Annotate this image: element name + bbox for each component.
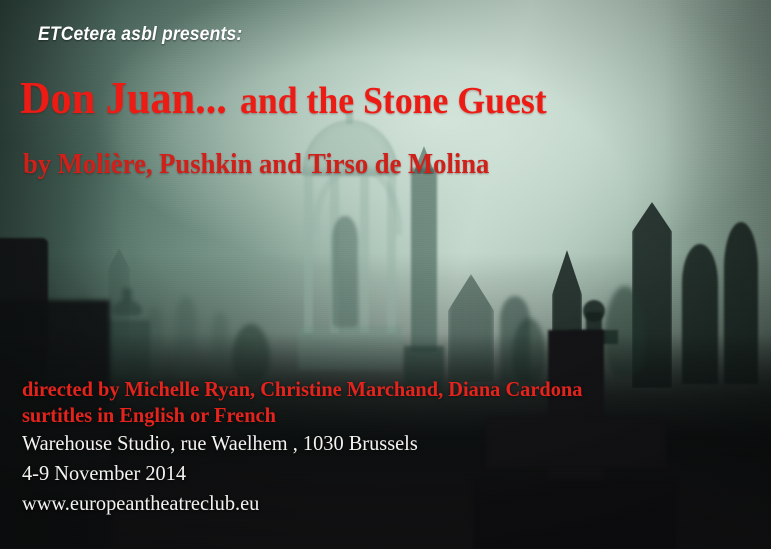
directors-line: directed by Michelle Ryan, Christine Mar… xyxy=(22,376,582,402)
website-line: www.europeantheatreclub.eu xyxy=(22,488,582,518)
title-part-secondary: and the Stone Guest xyxy=(240,79,547,123)
venue-line: Warehouse Studio, rue Waelhem , 1030 Bru… xyxy=(22,428,582,458)
dates-line: 4-9 November 2014 xyxy=(22,458,582,488)
poster-text: ETCetera asbl presents: Don Juan... and … xyxy=(0,0,771,549)
page-title: Don Juan... and the Stone Guest xyxy=(20,72,566,124)
title-part-primary: Don Juan... xyxy=(20,72,227,124)
authors-byline: by Molière, Pushkin and Tirso de Molina xyxy=(23,149,489,181)
presenter-line: ETCetera asbl presents: xyxy=(38,24,242,46)
surtitles-line: surtitles in English or French xyxy=(22,402,582,428)
credits-block: directed by Michelle Ryan, Christine Mar… xyxy=(22,376,600,518)
poster: ETCetera asbl presents: Don Juan... and … xyxy=(0,0,771,549)
